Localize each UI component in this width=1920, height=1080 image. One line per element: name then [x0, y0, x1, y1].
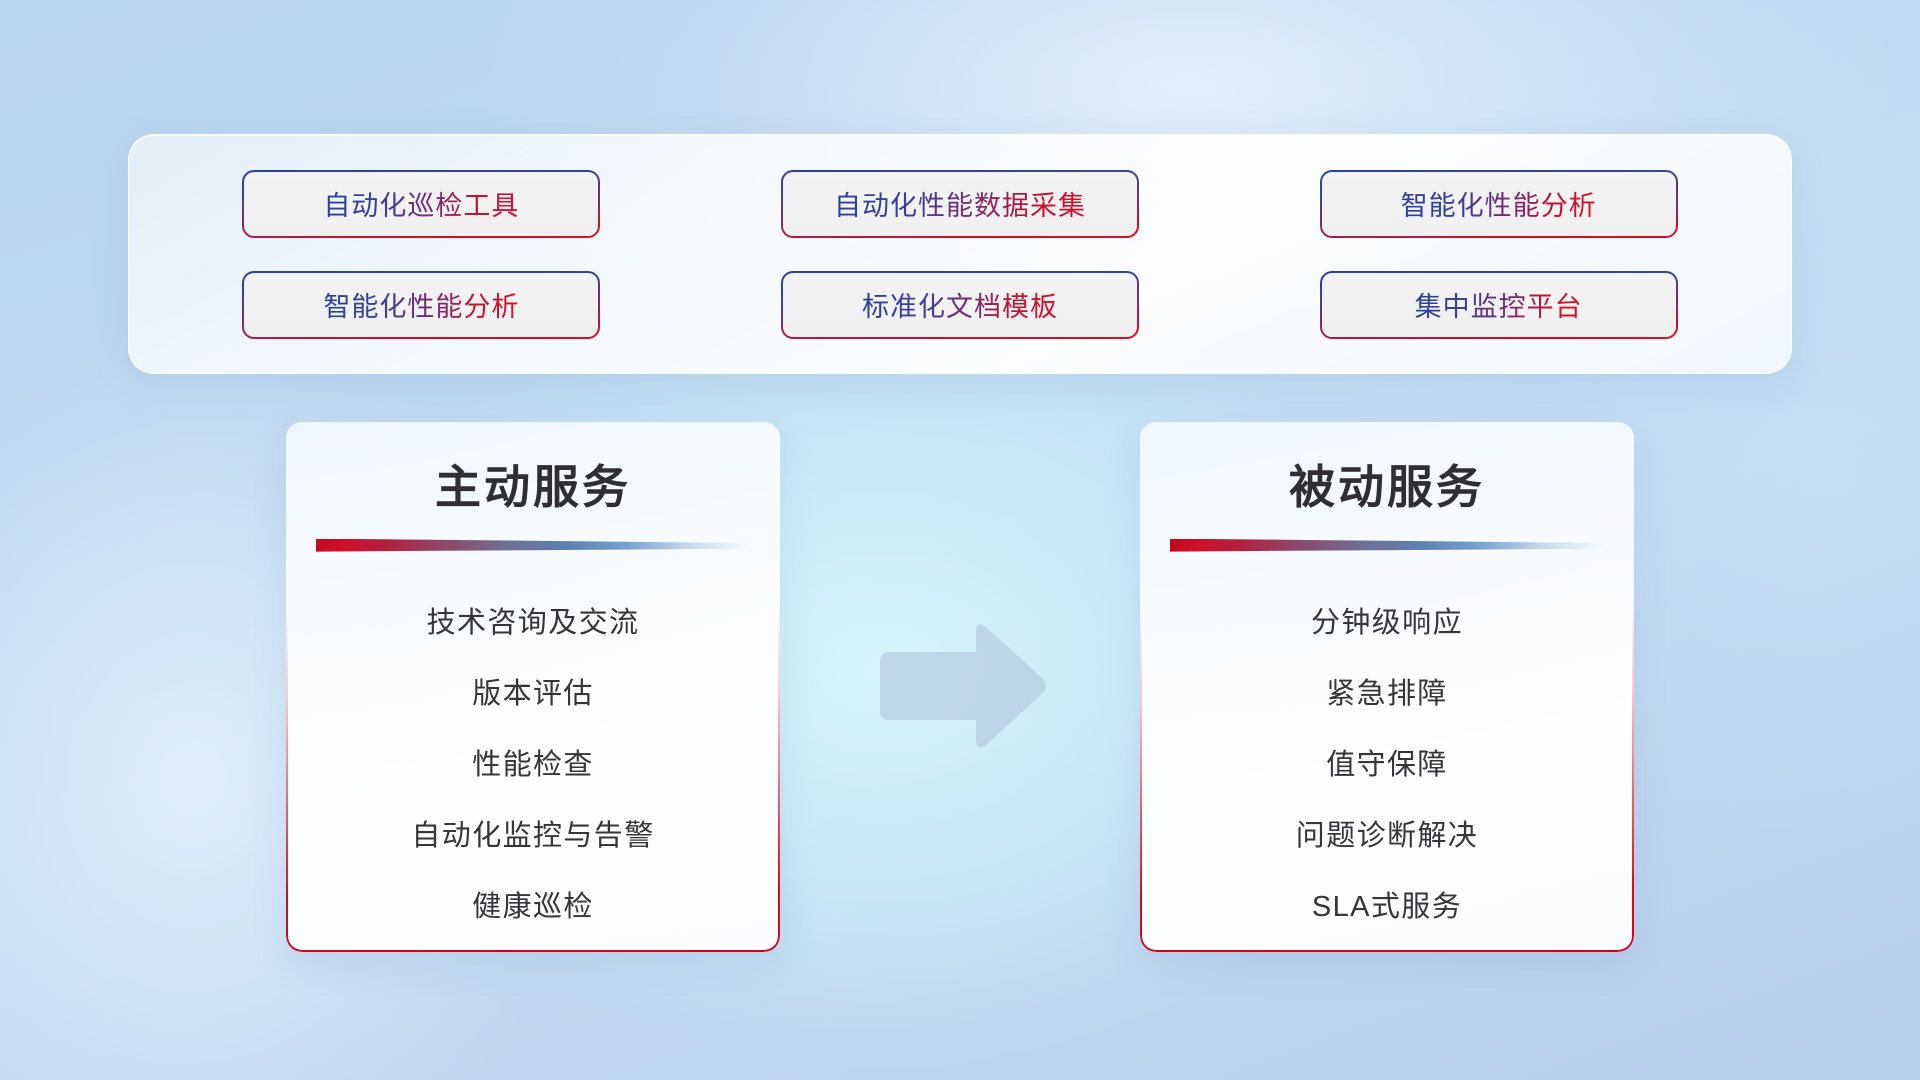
capability-pill[interactable]: 自动化巡检工具 [242, 170, 600, 238]
service-list-item: 问题诊断解决 [1160, 801, 1614, 872]
service-list-item: 紧急排障 [1160, 659, 1614, 730]
capability-panel: 自动化巡检工具 自动化性能数据采集 智能化性能分析 智能化性能分析 标准化文档模… [128, 134, 1792, 374]
capability-pill[interactable]: 自动化性能数据采集 [781, 170, 1139, 238]
capability-pill[interactable]: 集中监控平台 [1320, 271, 1678, 339]
card-title: 主动服务 [306, 462, 760, 513]
service-list-item: SLA式服务 [1160, 872, 1614, 943]
card-divider [1170, 539, 1604, 552]
service-list-item: 技术咨询及交流 [306, 588, 760, 659]
capability-pill[interactable]: 智能化性能分析 [1320, 170, 1678, 238]
card-title: 被动服务 [1160, 462, 1614, 513]
service-list-item: 健康巡检 [306, 872, 760, 943]
service-item-list: 分钟级响应 紧急排障 值守保障 问题诊断解决 SLA式服务 [1160, 588, 1614, 943]
capability-pill[interactable]: 标准化文档模板 [781, 271, 1139, 339]
capability-pill-label: 标准化文档模板 [862, 285, 1058, 324]
service-list-item: 值守保障 [1160, 730, 1614, 801]
capability-pill-label: 智能化性能分析 [1401, 184, 1597, 223]
capability-pill-label: 自动化巡检工具 [323, 184, 519, 223]
service-list-item: 自动化监控与告警 [306, 801, 760, 872]
arrow-right-icon [872, 618, 1050, 754]
service-item-list: 技术咨询及交流 版本评估 性能检查 自动化监控与告警 健康巡检 [306, 588, 760, 943]
capability-pill-label: 智能化性能分析 [323, 285, 519, 324]
service-card-reactive: 被动服务 分钟级响应 紧急排障 值守保障 问题诊断解决 SLA式服务 [1140, 422, 1634, 952]
service-list-item: 性能检查 [306, 730, 760, 801]
service-card-proactive: 主动服务 技术咨询及交流 版本评估 性能检查 自动化监控与告警 健康巡检 [286, 422, 780, 952]
capability-pill[interactable]: 智能化性能分析 [242, 271, 600, 339]
capability-pill-label: 自动化性能数据采集 [834, 184, 1086, 223]
service-list-item: 分钟级响应 [1160, 588, 1614, 659]
slide-canvas: 自动化巡检工具 自动化性能数据采集 智能化性能分析 智能化性能分析 标准化文档模… [0, 0, 1920, 1080]
card-divider [316, 539, 750, 552]
capability-pill-label: 集中监控平台 [1415, 285, 1583, 324]
service-list-item: 版本评估 [306, 659, 760, 730]
